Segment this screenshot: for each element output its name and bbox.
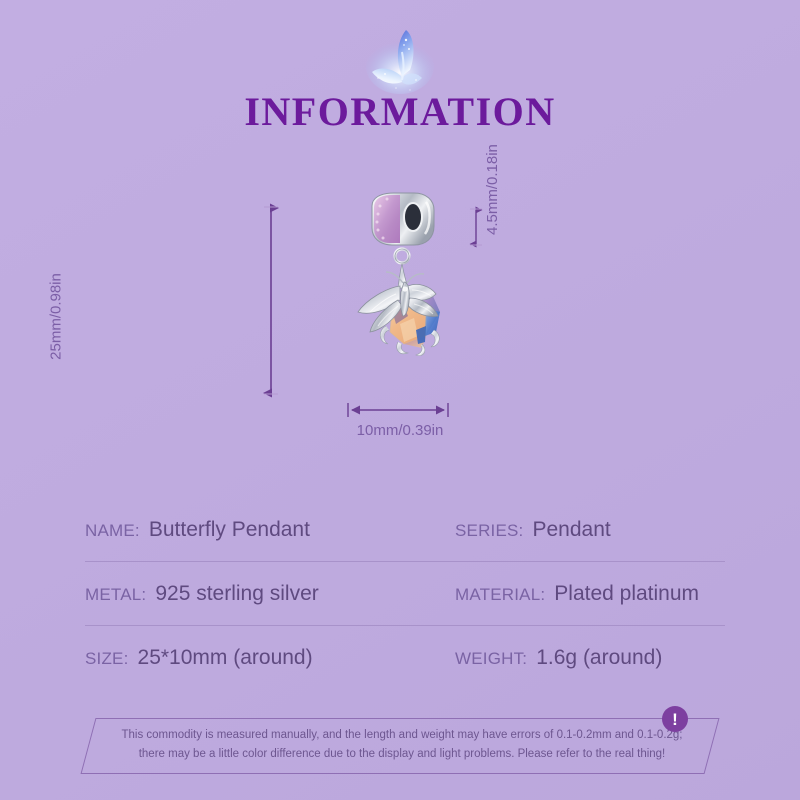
page-header: INFORMATION <box>0 0 800 160</box>
spec-value: 25*10mm (around) <box>138 646 313 670</box>
spec-value: Pendant <box>532 518 610 542</box>
spec-label: NAME: <box>85 521 140 541</box>
dimension-height-label: 25mm/0.98in <box>48 257 65 377</box>
specification-table: NAME: Butterfly Pendant SERIES: Pendant … <box>85 498 725 689</box>
spec-value: Butterfly Pendant <box>149 518 310 542</box>
table-row: NAME: Butterfly Pendant SERIES: Pendant <box>85 498 725 561</box>
table-row: METAL: 925 sterling silver MATERIAL: Pla… <box>85 561 725 625</box>
spec-material: MATERIAL: Plated platinum <box>455 582 725 606</box>
spec-label: MATERIAL: <box>455 585 545 605</box>
disclaimer-text: This commodity is measured manually, and… <box>120 726 684 764</box>
product-dimension-figure: 25mm/0.98in 4.5mm/0.18in 10mm/0.39in <box>0 160 800 490</box>
spec-label: METAL: <box>85 585 146 605</box>
spec-series: SERIES: Pendant <box>455 518 725 542</box>
butterfly-pendant-image <box>330 190 470 420</box>
disclaimer-line-1: This commodity is measured manually, and… <box>120 726 684 745</box>
disclaimer-banner: This commodity is measured manually, and… <box>88 718 712 774</box>
table-row: SIZE: 25*10mm (around) WEIGHT: 1.6g (aro… <box>85 625 725 689</box>
spec-size: SIZE: 25*10mm (around) <box>85 646 455 670</box>
spec-value: 1.6g (around) <box>536 646 662 670</box>
page-title: INFORMATION <box>0 88 800 135</box>
dimension-width-label: 10mm/0.39in <box>330 422 470 439</box>
spec-value: 925 sterling silver <box>155 582 318 606</box>
dimension-bail-height-label: 4.5mm/0.18in <box>484 115 501 235</box>
disclaimer-line-2: there may be a little color difference d… <box>120 745 684 764</box>
spec-label: WEIGHT: <box>455 649 527 669</box>
spec-value: Plated platinum <box>554 582 699 606</box>
spec-name: NAME: Butterfly Pendant <box>85 518 455 542</box>
spec-metal: METAL: 925 sterling silver <box>85 582 455 606</box>
spec-label: SERIES: <box>455 521 523 541</box>
exclamation-circle-icon: ! <box>662 706 688 732</box>
spec-label: SIZE: <box>85 649 129 669</box>
spec-weight: WEIGHT: 1.6g (around) <box>455 646 725 670</box>
information-page: INFORMATION <box>0 0 800 800</box>
